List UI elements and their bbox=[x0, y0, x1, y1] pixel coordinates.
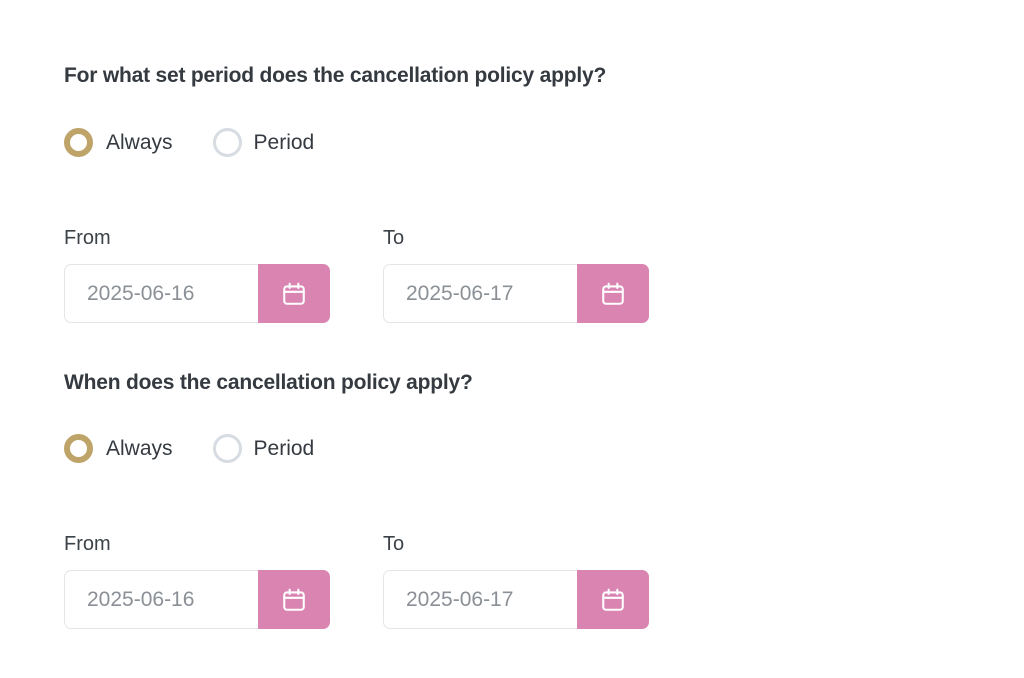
radio-mark-period-1[interactable] bbox=[213, 128, 242, 157]
radio-mark-always-1[interactable] bbox=[64, 128, 93, 157]
calendar-button-to-1[interactable] bbox=[577, 264, 649, 323]
radio-label-always-2: Always bbox=[106, 438, 173, 459]
date-input-group-from-2 bbox=[64, 570, 330, 629]
radio-option-period-1[interactable]: Period bbox=[213, 128, 315, 157]
field-label-from-2: From bbox=[64, 534, 331, 554]
date-field-from-2: From bbox=[64, 534, 331, 629]
calendar-icon bbox=[600, 281, 626, 307]
calendar-button-from-2[interactable] bbox=[258, 570, 330, 629]
calendar-icon bbox=[281, 281, 307, 307]
cancellation-policy-form: For what set period does the cancellatio… bbox=[0, 0, 1024, 678]
date-input-group-to-2 bbox=[383, 570, 649, 629]
date-input-to-1[interactable] bbox=[383, 264, 577, 323]
section-heading-set-period: For what set period does the cancellatio… bbox=[64, 63, 606, 88]
radio-option-always-1[interactable]: Always bbox=[64, 128, 173, 157]
date-input-to-2[interactable] bbox=[383, 570, 577, 629]
field-label-to-1: To bbox=[383, 228, 650, 248]
date-field-from-1: From bbox=[64, 228, 331, 323]
calendar-button-from-1[interactable] bbox=[258, 264, 330, 323]
radio-mark-always-2[interactable] bbox=[64, 434, 93, 463]
date-range-row-2: From bbox=[64, 534, 650, 629]
radio-option-always-2[interactable]: Always bbox=[64, 434, 173, 463]
date-input-from-1[interactable] bbox=[64, 264, 258, 323]
date-input-group-from-1 bbox=[64, 264, 330, 323]
radio-group-set-period: Always Period bbox=[64, 128, 314, 157]
radio-group-when-apply: Always Period bbox=[64, 434, 314, 463]
radio-mark-period-2[interactable] bbox=[213, 434, 242, 463]
date-field-to-1: To bbox=[383, 228, 650, 323]
field-label-from-1: From bbox=[64, 228, 331, 248]
radio-option-period-2[interactable]: Period bbox=[213, 434, 315, 463]
radio-label-always-1: Always bbox=[106, 132, 173, 153]
radio-label-period-2: Period bbox=[254, 438, 315, 459]
radio-label-period-1: Period bbox=[254, 132, 315, 153]
date-input-from-2[interactable] bbox=[64, 570, 258, 629]
calendar-icon bbox=[281, 587, 307, 613]
field-label-to-2: To bbox=[383, 534, 650, 554]
section-heading-when-apply: When does the cancellation policy apply? bbox=[64, 370, 473, 395]
date-range-row-1: From bbox=[64, 228, 650, 323]
date-field-to-2: To bbox=[383, 534, 650, 629]
date-input-group-to-1 bbox=[383, 264, 649, 323]
calendar-button-to-2[interactable] bbox=[577, 570, 649, 629]
calendar-icon bbox=[600, 587, 626, 613]
